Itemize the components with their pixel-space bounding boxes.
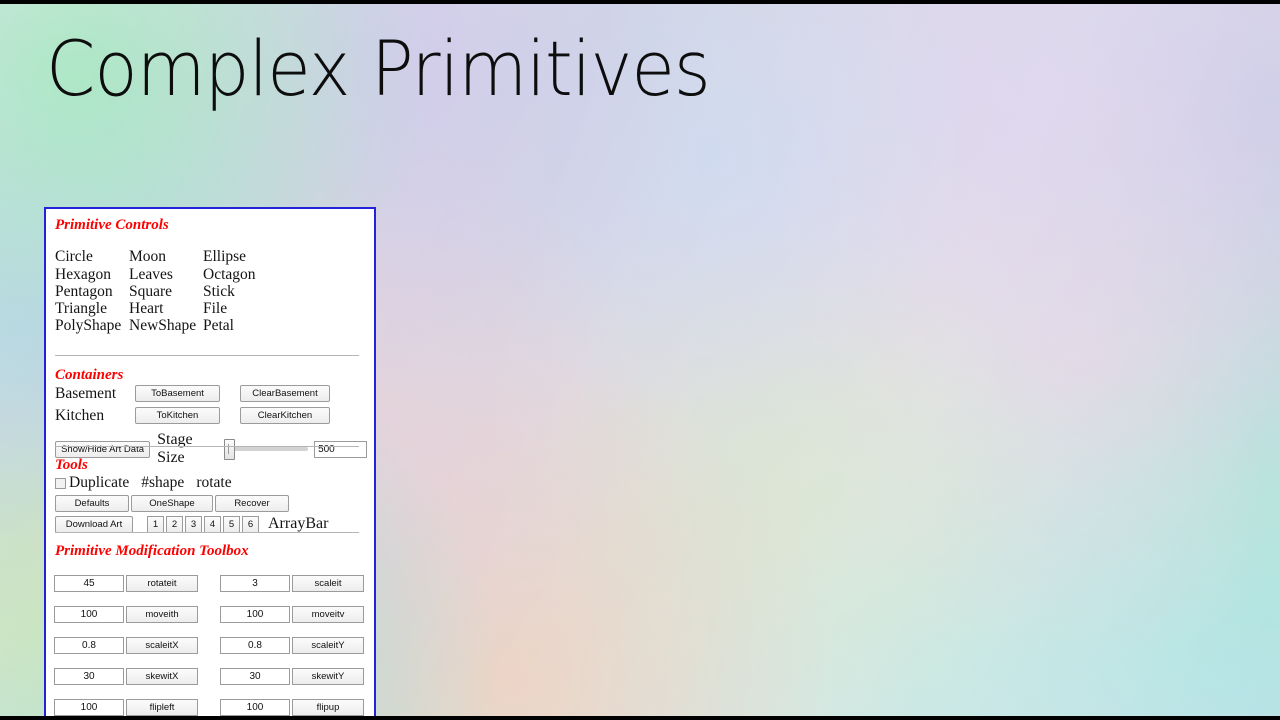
array-number-2[interactable]: 2 [166,516,183,533]
divider-containers [55,446,359,447]
section-heading-primitive-controls: Primitive Controls [55,217,283,234]
scaleitx-button[interactable]: scaleitX [126,637,198,654]
moveitv-button[interactable]: moveitv [292,606,364,623]
toolbox-row-move: 100 moveith 100 moveitv [54,606,368,623]
array-number-5[interactable]: 5 [223,516,240,533]
skewitx-button[interactable]: skewitX [126,668,198,685]
toolbox-row-scale-axis: 0.8 scaleitX 0.8 scaleitY [54,637,368,654]
kitchen-row: Kitchen ToKitchen ClearKitchen [55,406,367,425]
to-kitchen-button[interactable]: ToKitchen [135,407,220,424]
shape-count-label: #shape [141,474,184,492]
skewity-button[interactable]: skewitY [292,668,364,685]
shape-item-polyshape[interactable]: PolyShape [55,317,129,334]
page-title: Complex Primitives [46,26,1236,112]
rotate-label: rotate [196,474,231,492]
scaleity-input[interactable]: 0.8 [220,637,290,654]
section-heading-containers: Containers [55,367,367,384]
array-bar-row: Download Art 1 2 3 4 5 6 ArrayBar [55,515,367,533]
section-heading-tools: Tools [55,457,367,474]
shape-item-leaves[interactable]: Leaves [129,266,203,283]
array-number-3[interactable]: 3 [185,516,202,533]
containers-section: Containers Basement ToBasement ClearBase… [55,367,367,467]
shape-item-stick[interactable]: Stick [203,283,283,300]
shape-item-triangle[interactable]: Triangle [55,300,129,317]
tools-button-row: Defaults OneShape Recover [55,495,367,512]
flipleft-button[interactable]: flipleft [126,699,198,716]
shape-item-file[interactable]: File [203,300,283,317]
shape-item-square[interactable]: Square [129,283,203,300]
toolbox-row-flip: 100 flipleft 100 flipup [54,699,368,716]
clear-basement-button[interactable]: ClearBasement [240,385,330,402]
to-basement-button[interactable]: ToBasement [135,385,220,402]
flipleft-input[interactable]: 100 [54,699,124,716]
moveitv-input[interactable]: 100 [220,606,290,623]
array-number-6[interactable]: 6 [242,516,259,533]
toolbox-row-skew: 30 skewitX 30 skewitY [54,668,368,685]
stage-size-input[interactable]: 500 [314,441,367,458]
tools-section: Tools Duplicate #shape rotate Defaults O… [55,457,367,536]
flipup-input[interactable]: 100 [220,699,290,716]
scaleit-input[interactable]: 3 [220,575,290,592]
duplicate-checkbox[interactable] [55,478,66,489]
section-heading-toolbox: Primitive Modification Toolbox [55,543,249,560]
flipup-button[interactable]: flipup [292,699,364,716]
rotateit-input[interactable]: 45 [54,575,124,592]
shape-item-petal[interactable]: Petal [203,317,283,334]
array-bar-label: ArrayBar [268,515,328,533]
basement-row: Basement ToBasement ClearBasement [55,384,367,403]
shape-item-hexagon[interactable]: Hexagon [55,266,129,283]
moveith-button[interactable]: moveith [126,606,198,623]
one-shape-button[interactable]: OneShape [131,495,213,512]
shape-item-pentagon[interactable]: Pentagon [55,283,129,300]
moveith-input[interactable]: 100 [54,606,124,623]
shape-list: Primitive Controls Circle Moon Ellipse H… [55,217,355,335]
basement-label: Basement [55,384,135,403]
shape-item-octagon[interactable]: Octagon [203,266,283,283]
kitchen-label: Kitchen [55,406,135,425]
shape-item-newshape[interactable]: NewShape [129,317,203,334]
duplicate-label: Duplicate [69,474,129,492]
skewity-input[interactable]: 30 [220,668,290,685]
tools-options-row: Duplicate #shape rotate [55,474,367,492]
primitive-controls-panel: Primitive Controls Circle Moon Ellipse H… [44,207,376,716]
scaleitx-input[interactable]: 0.8 [54,637,124,654]
scaleity-button[interactable]: scaleitY [292,637,364,654]
show-hide-art-data-button[interactable]: Show/Hide Art Data [55,441,150,458]
clear-kitchen-button[interactable]: ClearKitchen [240,407,330,424]
slide-canvas: Complex Primitives Primitive Controls Ci… [0,4,1280,716]
shape-item-heart[interactable]: Heart [129,300,203,317]
divider-shapes [55,355,359,356]
download-art-button[interactable]: Download Art [55,516,133,533]
divider-tools [55,532,359,533]
shape-item-moon[interactable]: Moon [129,248,203,265]
shape-item-ellipse[interactable]: Ellipse [203,248,283,265]
stage-size-slider[interactable] [227,447,308,451]
skewitx-input[interactable]: 30 [54,668,124,685]
shape-item-circle[interactable]: Circle [55,248,129,265]
recover-button[interactable]: Recover [215,495,289,512]
array-number-1[interactable]: 1 [147,516,164,533]
defaults-button[interactable]: Defaults [55,495,129,512]
array-number-4[interactable]: 4 [204,516,221,533]
modification-toolbox: 45 rotateit 3 scaleit 100 moveith 100 mo… [54,575,368,716]
toolbox-row-rotate: 45 rotateit 3 scaleit [54,575,368,592]
rotateit-button[interactable]: rotateit [126,575,198,592]
scaleit-button[interactable]: scaleit [292,575,364,592]
